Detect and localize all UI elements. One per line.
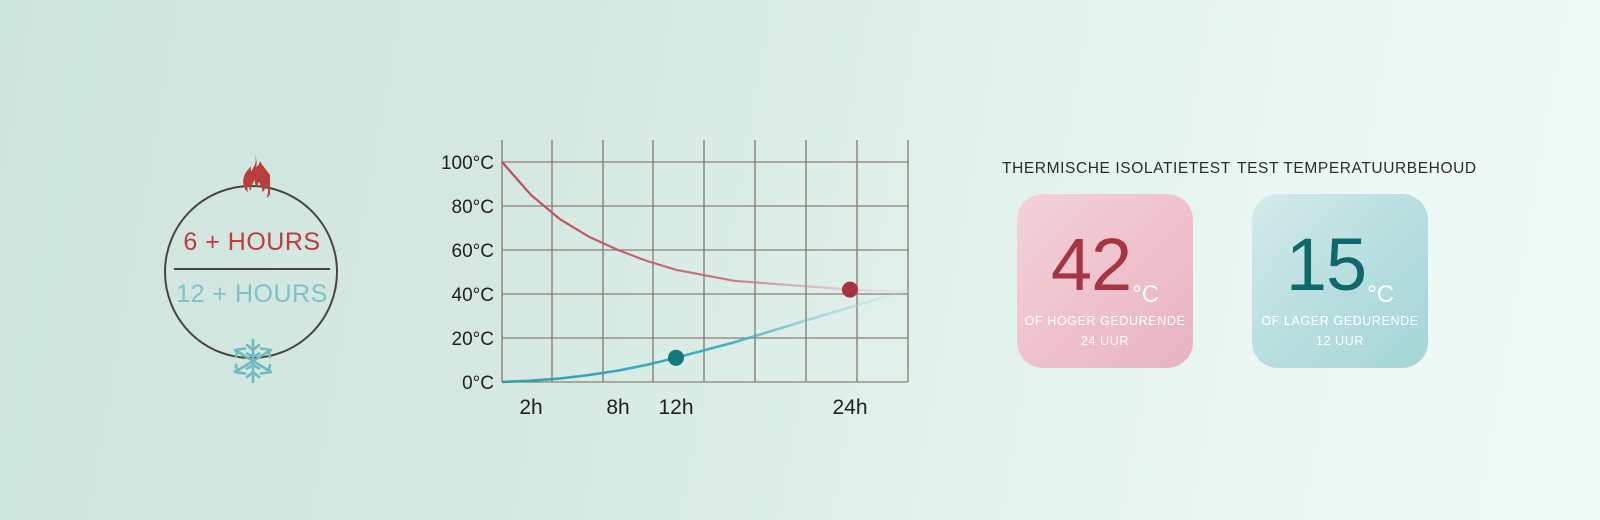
result-sub-line2: 12 UUR — [1252, 334, 1428, 348]
result-card-cold: 15°C OF LAGER GEDURENDE 12 UUR — [1252, 194, 1428, 368]
result-unit: °C — [1132, 281, 1159, 308]
ytick-20: 20°C — [452, 329, 494, 350]
result-sub-line2: 24 UUR — [1017, 334, 1193, 348]
result-value-wrap: 15°C — [1252, 228, 1428, 302]
infographic-stage: 6 + HOURS 12 + HOURS — [0, 0, 1600, 520]
snowflake-icon — [232, 338, 274, 384]
result-unit: °C — [1367, 281, 1394, 308]
panel-caption: TEST TEMPERATUURBEHOUD — [1237, 158, 1445, 180]
ytick-100: 100°C — [441, 153, 494, 174]
badge-cold-label: 12 + HOURS — [152, 280, 352, 309]
flame-icon — [236, 153, 270, 201]
cold-marker — [668, 350, 684, 366]
ytick-60: 60°C — [452, 241, 494, 262]
cold-rise-series — [502, 290, 908, 382]
hot-decay-series — [502, 162, 908, 292]
hot-marker — [842, 282, 858, 298]
test-results-panels: THERMISCHE ISOLATIETEST 42°C OF HOGER GE… — [990, 158, 1480, 398]
result-value: 15 — [1286, 223, 1366, 306]
result-value: 42 — [1051, 223, 1131, 306]
panel-thermal-insulation: THERMISCHE ISOLATIETEST 42°C OF HOGER GE… — [1000, 158, 1210, 368]
panel-temperature-retention: TEST TEMPERATUURBEHOUD 15°C OF LAGER GED… — [1235, 158, 1445, 368]
badge-divider — [174, 268, 330, 270]
ytick-0: 0°C — [462, 373, 494, 394]
result-value-wrap: 42°C — [1017, 228, 1193, 302]
duration-badge: 6 + HOURS 12 + HOURS — [152, 150, 352, 390]
result-sub-line1: OF HOGER GEDURENDE — [1017, 314, 1193, 328]
xtick-24h: 24h — [832, 396, 867, 419]
badge-ring — [164, 185, 338, 359]
badge-hot-label: 6 + HOURS — [152, 228, 352, 257]
temperature-chart: 100°C 80°C 60°C 40°C 20°C 0°C 2h 8h 12h … — [430, 130, 930, 430]
xtick-2h: 2h — [519, 396, 542, 419]
chart-gridlines — [502, 140, 908, 382]
result-card-hot: 42°C OF HOGER GEDURENDE 24 UUR — [1017, 194, 1193, 368]
ytick-40: 40°C — [452, 285, 494, 306]
ytick-80: 80°C — [452, 197, 494, 218]
panel-caption: THERMISCHE ISOLATIETEST — [1002, 158, 1210, 180]
xtick-12h: 12h — [658, 396, 693, 419]
result-sub-line1: OF LAGER GEDURENDE — [1252, 314, 1428, 328]
xtick-8h: 8h — [606, 396, 629, 419]
